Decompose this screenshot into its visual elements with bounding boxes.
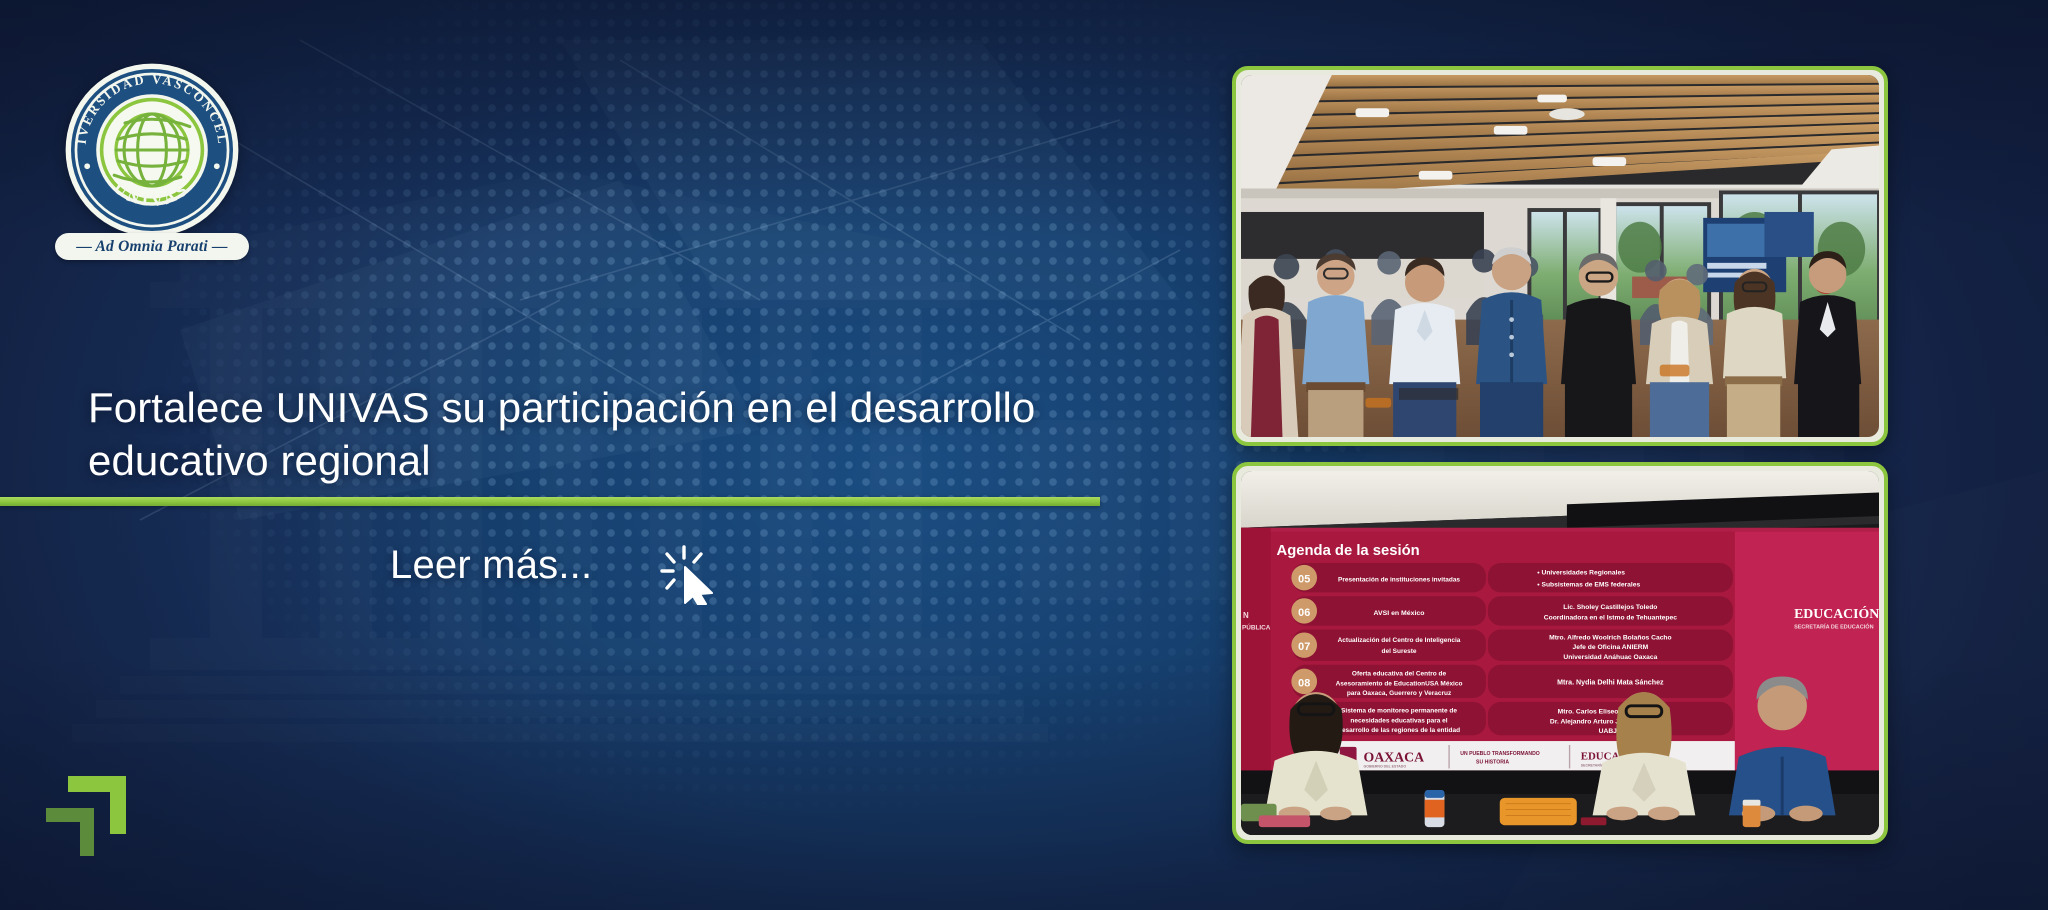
univas-logo[interactable]: UNIVERSIDAD VASCONCELOS UNIVAS [62,60,242,240]
hero-banner: UNIVERSIDAD VASCONCELOS UNIVAS — Ad Omni… [0,0,2048,910]
news-photo-group-illustration [1241,75,1879,437]
svg-text:• Subsistemas de EMS federales: • Subsistemas de EMS federales [1537,581,1640,588]
agenda-row-number: 08 [1298,677,1310,689]
agenda-row: 05 Presentación de instituciones invitad… [1291,563,1732,592]
svg-text:para Oaxaca, Guerrero y Veracr: para Oaxaca, Guerrero y Veracruz [1347,690,1451,697]
svg-text:Asesoramiento de EducationUSA: Asesoramiento de EducationUSA México [1336,680,1463,687]
logo-motto-banner: — Ad Omnia Parati — [55,233,249,260]
svg-text:desarrollo de las regiones de: desarrollo de las regiones de la entidad [1338,727,1460,734]
svg-text:Jefe de Oficina ANIERM: Jefe de Oficina ANIERM [1572,644,1648,651]
svg-text:del Sureste: del Sureste [1382,648,1417,655]
agenda-row: 06 AVSI en México Lic. Sholey Castillejo… [1291,596,1732,625]
agenda-left-banner-line1: N [1243,611,1249,620]
oaxaca-slogan-line1: UN PUEBLO TRANSFORMANDO [1460,751,1540,757]
page-title: Fortalece UNIVAS su participación en el … [88,382,1128,488]
agenda-slide-title: Agenda de la sesión [1277,543,1420,559]
svg-text:Universidad Anáhuac Oaxaca: Universidad Anáhuac Oaxaca [1563,654,1657,661]
agenda-row-topic: Presentación de instituciones invitadas [1338,577,1460,584]
read-more-label[interactable]: Leer más... [390,543,592,588]
agenda-row: 07 Actualización del Centro de Inteligen… [1291,630,1732,661]
svg-text:• Universidades Regionales: • Universidades Regionales [1537,570,1625,577]
news-photo-group[interactable] [1232,66,1888,446]
svg-text:necesidades educativas para el: necesidades educativas para el [1350,717,1447,724]
accent-divider [0,497,1100,506]
agenda-slide-illustration: Agenda de la sesión N PÚBLICA EDUCACIÓN … [1241,471,1879,835]
svg-text:Oferta educativa del Centro de: Oferta educativa del Centro de [1352,671,1447,678]
click-cursor-icon [658,543,718,605]
svg-text:Mtro. Alfredo Woolrich Bolaños: Mtro. Alfredo Woolrich Bolaños Cacho [1549,634,1672,641]
agenda-row: 08 Oferta educativa del Centro de Asesor… [1291,665,1732,698]
svg-text:Actualización del Centro de In: Actualización del Centro de Inteligencia [1338,637,1461,644]
agenda-left-banner-line2: PÚBLICA [1242,623,1271,632]
agenda-row-number: 06 [1298,607,1310,619]
decorative-bracket-motif [42,770,138,862]
logo-motto-text: — Ad Omnia Parati — [76,238,227,256]
agenda-row-topic: AVSI en México [1374,610,1425,617]
agenda-right-banner-line2: SECRETARÍA DE EDUCACIÓN [1794,623,1874,631]
oaxaca-logo-subtext: GOBIERNO DEL ESTADO [1363,764,1406,768]
oaxaca-logo-text: OAXACA [1363,750,1424,765]
news-photo-agenda-slide[interactable]: Agenda de la sesión N PÚBLICA EDUCACIÓN … [1232,462,1888,844]
oaxaca-slogan-line2: SU HISTORIA [1476,760,1509,766]
agenda-row-number: 05 [1298,574,1310,586]
read-more-cta[interactable]: Leer más... [390,525,718,605]
svg-text:Coordinadora en el Istmo de Te: Coordinadora en el Istmo de Tehuantepec [1544,615,1677,622]
agenda-right-banner-line1: EDUCACIÓN [1794,605,1879,621]
agenda-row-number: 07 [1298,641,1310,653]
svg-text:Sistema de monitoreo permanent: Sistema de monitoreo permanente de [1341,708,1457,715]
svg-text:Lic. Sholey Castillejos Toledo: Lic. Sholey Castillejos Toledo [1563,604,1657,611]
agenda-row-speaker: Mtra. Nydia Delhi Mata Sánchez [1557,679,1664,686]
